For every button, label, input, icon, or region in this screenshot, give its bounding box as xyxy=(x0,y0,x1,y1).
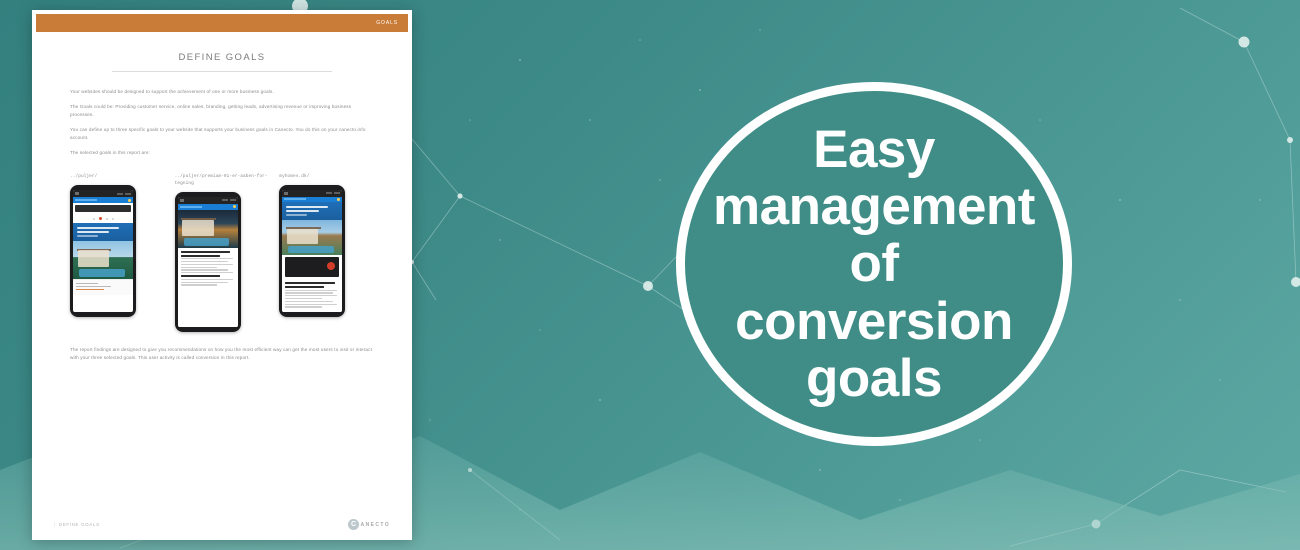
phone-mockup xyxy=(70,185,136,317)
intro-paragraphs: Your websites should be designed to supp… xyxy=(70,88,374,157)
goal-url-label: myhomes.dk/ xyxy=(279,173,374,181)
screen-navbar xyxy=(178,197,238,204)
screen-article-text xyxy=(282,279,342,312)
canecto-logo-text: ANECTO xyxy=(361,522,390,528)
canecto-logo-icon: C xyxy=(348,519,359,530)
screen-search-field xyxy=(75,205,131,212)
phone-mockup xyxy=(175,192,241,332)
screen-footer xyxy=(73,279,133,295)
badge-line: goals xyxy=(713,350,1035,407)
goal-item: ../puljer/premium-01-er-aaben-for-tegnin… xyxy=(175,173,270,332)
footer-breadcrumb: | DEFINE GOALS xyxy=(54,522,100,527)
badge-line: conversion xyxy=(713,293,1035,350)
report-slide-page: GOALS DEFINE GOALS Your websites should … xyxy=(32,10,412,540)
overlay-badge-text: Easy management of conversion goals xyxy=(699,121,1049,407)
intro-paragraph: Your websites should be designed to supp… xyxy=(70,88,374,96)
screen-step-indicator xyxy=(73,214,133,223)
phone-mockup-wrap xyxy=(279,185,374,317)
intro-paragraph: The Goals could be: Providing customer s… xyxy=(70,103,374,119)
nav-links xyxy=(222,199,236,201)
screen-villa-photo xyxy=(73,241,133,279)
outro-paragraph: The report findings are designed to give… xyxy=(70,346,374,362)
intro-paragraph: You can define up to three specific goal… xyxy=(70,126,374,142)
phone-mockup-wrap xyxy=(175,192,270,332)
phone-screen xyxy=(178,197,238,327)
goal-screenshots-row: ../puljer/ xyxy=(70,173,374,332)
slide-body: DEFINE GOALS Your websites should be des… xyxy=(32,52,412,362)
screen-article-text xyxy=(178,248,238,327)
slide-footer: | DEFINE GOALS C ANECTO xyxy=(32,519,412,530)
page-title: DEFINE GOALS xyxy=(70,52,374,63)
outro-paragraph-wrap: The report findings are designed to give… xyxy=(70,346,374,362)
title-divider xyxy=(112,71,332,72)
badge-line: Easy xyxy=(713,121,1035,178)
screen-hero-heading xyxy=(73,223,133,240)
slide-topbar: GOALS xyxy=(36,14,408,32)
screen-bluebar xyxy=(73,197,133,203)
hamburger-icon xyxy=(180,199,184,202)
goal-url-label: ../puljer/premium-01-er-aaben-for-tegnin… xyxy=(175,173,270,188)
goal-item: myhomes.dk/ xyxy=(279,173,374,317)
goal-url-label: ../puljer/ xyxy=(70,173,165,181)
intro-paragraph: The selected goals in this report are: xyxy=(70,149,374,157)
footer-label: DEFINE GOALS xyxy=(59,522,100,527)
canecto-logo: C ANECTO xyxy=(348,519,390,530)
screen-hero-heading xyxy=(282,202,342,219)
hamburger-icon xyxy=(284,192,288,195)
overlay-badge-circle: Easy management of conversion goals xyxy=(676,82,1072,446)
phone-mockup xyxy=(279,185,345,317)
slide-topbar-label: GOALS xyxy=(376,20,398,26)
phone-mockup-wrap xyxy=(70,185,165,317)
screen-promo-card xyxy=(285,257,339,277)
phone-screen xyxy=(73,190,133,312)
goal-item: ../puljer/ xyxy=(70,173,165,317)
promo-badge-icon xyxy=(327,262,335,270)
screen-villa-photo-night xyxy=(178,210,238,248)
screen-navbar xyxy=(73,190,133,197)
nav-links xyxy=(326,192,340,194)
nav-links xyxy=(117,193,131,195)
badge-line: management xyxy=(713,178,1035,235)
hamburger-icon xyxy=(75,192,79,195)
badge-line: of xyxy=(713,235,1035,292)
footer-separator: | xyxy=(54,522,56,527)
screen-villa-photo xyxy=(282,220,342,255)
phone-screen xyxy=(282,190,342,312)
